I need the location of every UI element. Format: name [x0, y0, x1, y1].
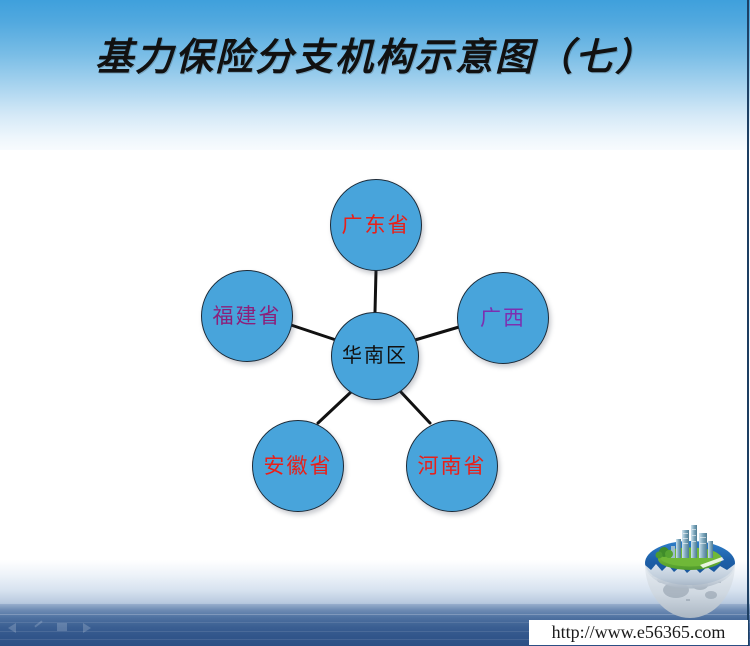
diagram-node-branch-2[interactable]: 广西 [457, 272, 549, 364]
presentation-slide: 基力保险分支机构示意图（七） 广东省福建省广西安徽省河南省华南区 [0, 0, 750, 646]
diagram-node-label: 广西 [480, 308, 526, 329]
diagram-node-label: 华南区 [342, 346, 408, 366]
connector-华南区-安徽省 [318, 392, 351, 423]
connector-华南区-福建省 [291, 325, 339, 341]
connector-华南区-广东省 [375, 271, 376, 312]
watermark-box: http://www.e56365.com [529, 620, 748, 645]
globe-graphic [638, 519, 742, 621]
diagram-node-label: 河南省 [418, 456, 487, 477]
diagram-node-center[interactable]: 华南区 [331, 312, 419, 400]
diagram-node-branch-3[interactable]: 安徽省 [252, 420, 344, 512]
watermark-url: http://www.e56365.com [552, 622, 726, 643]
diagram-node-branch-0[interactable]: 广东省 [330, 179, 422, 271]
diagram-node-label: 广东省 [342, 215, 411, 236]
diagram-node-branch-4[interactable]: 河南省 [406, 420, 498, 512]
connector-华南区-河南省 [400, 391, 430, 423]
diagram-node-branch-1[interactable]: 福建省 [201, 270, 293, 362]
diagram-node-label: 福建省 [213, 306, 282, 327]
diagram-node-label: 安徽省 [264, 456, 333, 477]
connector-华南区-广西 [415, 327, 459, 340]
